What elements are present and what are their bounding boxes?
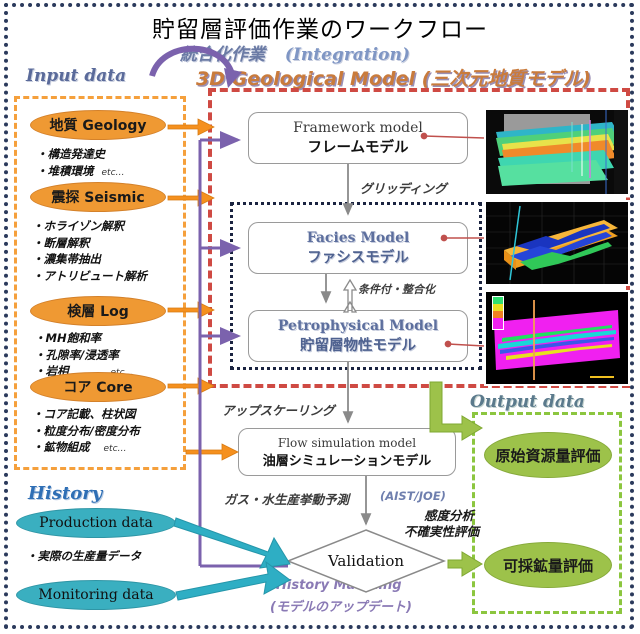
bullet: ・ホライゾン解釈 (32, 218, 192, 235)
etc-label: etc… (102, 167, 125, 180)
petrophysical-model-3d-view[interactable] (484, 290, 630, 386)
framework-3d-render (486, 110, 628, 194)
input-item-seismic[interactable]: 震探 Seismic (30, 182, 166, 212)
input-item-geology-bullets: ・構造発達史 ・堆積環境 etc… (36, 146, 186, 180)
model-facies-en: Facies Model (307, 230, 410, 246)
history-label: History (28, 483, 168, 504)
model-framework-en: Framework model (293, 120, 423, 136)
caption-history-matching-ja: (モデルのアップデート) (270, 596, 412, 615)
model-box-framework[interactable]: Framework model フレームモデル (248, 112, 468, 164)
workflow-diagram: 貯留層評価作業のワークフロー 統合化作業 (Integration) 3D Ge… (0, 0, 640, 634)
output-item-original-resources[interactable]: 原始資源量評価 (484, 432, 612, 478)
model-framework-ja: フレームモデル (307, 136, 408, 157)
history-item-production-data[interactable]: Production data (16, 508, 176, 538)
history-item-production-bullets: ・実際の生産量データ (26, 548, 196, 565)
input-item-geology[interactable]: 地質 Geology (30, 110, 166, 140)
facies-3d-render (486, 202, 628, 284)
model-box-facies[interactable]: Facies Model ファシスモデル (248, 222, 468, 274)
bullet: ・鉱物組成 (32, 439, 90, 456)
etc-label: etc… (104, 443, 127, 456)
integration-subtitle: 統合化作業 (Integration) (180, 40, 480, 65)
caption-upscaling: アップスケーリング (222, 400, 335, 419)
bullet: ・コア記載、柱状図 (32, 406, 198, 423)
bullet: ・孔隙率/浸透率 (34, 347, 194, 364)
input-item-seismic-label: 震探 Seismic (51, 187, 144, 207)
input-item-core-label: コア Core (63, 377, 132, 397)
output-data-label: Output data (470, 392, 640, 412)
integration-label-ja: 統合化作業 (180, 45, 265, 65)
validation-node[interactable]: Validation (286, 528, 446, 594)
caption-conditioning: 条件付・整合化 (358, 281, 435, 297)
model-facies-ja: ファシスモデル (307, 246, 409, 267)
bullet: ・アトリビュート解析 (32, 268, 192, 285)
input-item-log[interactable]: 検層 Log (30, 296, 166, 326)
model-box-flow-simulation[interactable]: Flow simulation model 油層シミュレーションモデル (238, 428, 456, 476)
model-petrophysical-ja: 貯留層物性モデル (300, 334, 416, 355)
output-item-0-label: 原始資源量評価 (495, 445, 600, 466)
model-petrophysical-en: Petrophysical Model (278, 318, 438, 334)
input-item-core-bullets: ・コア記載、柱状図 ・粒度分布/密度分布 ・鉱物組成 etc… (32, 406, 198, 456)
history-item-monitoring-data[interactable]: Monitoring data (16, 580, 176, 610)
input-item-core[interactable]: コア Core (30, 372, 166, 402)
petrophysical-3d-render (486, 292, 628, 384)
validation-label: Validation (286, 528, 446, 594)
caption-forecast-en: (AIST/JOE) (380, 489, 446, 503)
history-item-monitoring-data-label: Monitoring data (38, 587, 153, 603)
model-flow-en: Flow simulation model (278, 436, 416, 450)
model-heading: 3D Geological Model (三次元地質モデル) (196, 64, 640, 91)
input-item-seismic-bullets: ・ホライゾン解釈 ・断層解釈 ・濃集帯抽出 ・アトリビュート解析 (32, 218, 192, 285)
caption-forecast-ja: ガス・水生産挙動予測 (224, 489, 349, 508)
model-flow-ja: 油層シミュレーションモデル (263, 450, 431, 469)
bullet: ・MH飽和率 (34, 330, 194, 347)
input-data-label: Input data (26, 66, 176, 86)
facies-model-3d-view[interactable] (484, 200, 630, 286)
output-item-1-label: 可採鉱量評価 (503, 555, 593, 576)
bullet: ・実際の生産量データ (26, 548, 196, 565)
input-item-geology-label: 地質 Geology (49, 115, 146, 135)
model-box-petrophysical[interactable]: Petrophysical Model 貯留層物性モデル (248, 310, 468, 362)
bullet: ・断層解釈 (32, 235, 192, 252)
input-item-log-label: 検層 Log (67, 301, 128, 321)
history-item-production-data-label: Production data (39, 515, 153, 531)
framework-model-3d-view[interactable] (484, 108, 630, 196)
bullet: ・構造発達史 (36, 146, 186, 163)
output-item-recoverable-reserves[interactable]: 可採鉱量評価 (484, 542, 612, 588)
caption-gridding: グリッディング (360, 178, 447, 197)
bullet: ・堆積環境 (36, 163, 94, 180)
bullet: ・粒度分布/密度分布 (32, 423, 198, 440)
page-title: 貯留層評価作業のワークフロー (0, 10, 640, 44)
bullet: ・濃集帯抽出 (32, 251, 192, 268)
integration-label-en: (Integration) (285, 45, 410, 65)
